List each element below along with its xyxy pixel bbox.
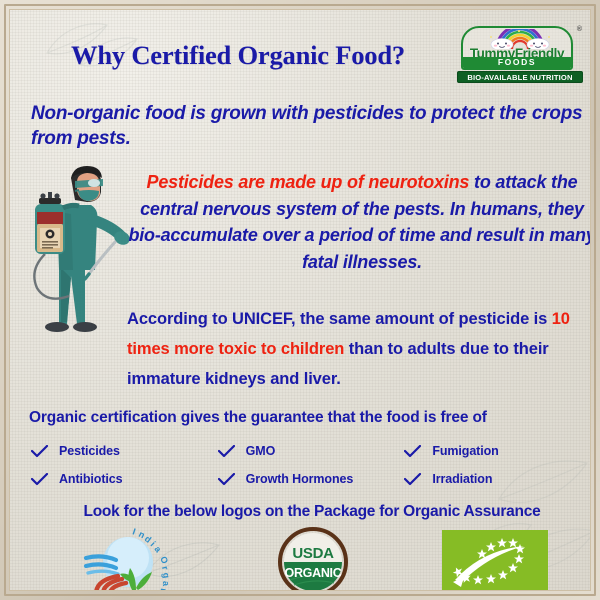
logo-tagline: BIO-AVAILABLE NUTRITION: [457, 71, 583, 83]
cert-label: Growth Hormones: [246, 472, 354, 486]
unicef-paragraph: According to UNICEF, the same amount of …: [127, 304, 591, 394]
page-title: Why Certified Organic Food?: [9, 40, 457, 71]
poster-canvas: Why Certified Organic Food? ®: [9, 9, 591, 591]
cert-item-irradiation: Irradiation: [404, 472, 591, 486]
check-icon: [404, 445, 421, 458]
cert-item-gmo: GMO: [218, 444, 405, 458]
certification-heading: Organic certification gives the guarante…: [29, 409, 591, 427]
logo-shield-shape: TummyFriendly FOODS: [461, 26, 573, 70]
svg-text:O: O: [158, 555, 170, 565]
infographic-poster: Why Certified Organic Food? ®: [0, 0, 600, 600]
svg-text:n: n: [158, 588, 169, 591]
cert-label: Pesticides: [59, 444, 120, 458]
certification-logos: I n d i a O r g a n i c: [29, 527, 591, 591]
svg-text:r: r: [160, 565, 171, 571]
pesticide-sprayer-worker-illustration: [15, 164, 133, 349]
pesticide-paragraph: Pesticides are made up of neurotoxins to…: [127, 169, 591, 275]
check-icon: [218, 473, 235, 486]
intro-paragraph: Non-organic food is grown with pesticide…: [31, 101, 591, 151]
usda-organic-logo: USDA ORGANIC: [278, 527, 348, 591]
svg-text:I: I: [131, 528, 136, 537]
check-icon: [31, 473, 48, 486]
footer-heading: Look for the below logos on the Package …: [29, 503, 591, 521]
brand-logo: ®: [457, 26, 583, 84]
check-icon: [31, 445, 48, 458]
cert-label: Fumigation: [432, 444, 498, 458]
svg-text:a: a: [161, 581, 171, 587]
cert-item-fumigation: Fumigation: [404, 444, 591, 458]
svg-text:USDA: USDA: [292, 545, 334, 562]
cert-item-growth-hormones: Growth Hormones: [218, 472, 405, 486]
svg-text:g: g: [161, 572, 172, 579]
india-organic-logo: I n d i a O r g a n i c: [76, 528, 184, 591]
svg-text:ORGANIC: ORGANIC: [285, 566, 342, 580]
certification-list: Pesticides GMO Fumigation Antibiotics Gr…: [31, 437, 591, 493]
cert-label: Antibiotics: [59, 472, 122, 486]
svg-text:a: a: [152, 544, 164, 555]
poster-header: Why Certified Organic Food? ®: [9, 27, 591, 83]
cert-item-antibiotics: Antibiotics: [31, 472, 218, 486]
check-icon: [404, 473, 421, 486]
cert-label: Irradiation: [432, 472, 492, 486]
check-icon: [218, 445, 235, 458]
registered-trademark-icon: ®: [577, 26, 582, 33]
eu-organic-leaf-logo: [442, 530, 548, 591]
cert-label: GMO: [246, 444, 276, 458]
cert-item-pesticides: Pesticides: [31, 444, 218, 458]
unicef-before: According to UNICEF, the same amount of …: [127, 310, 552, 328]
pesticide-highlight: Pesticides are made up of neurotoxins: [147, 172, 470, 192]
logo-foods-bar: FOODS: [463, 57, 571, 68]
